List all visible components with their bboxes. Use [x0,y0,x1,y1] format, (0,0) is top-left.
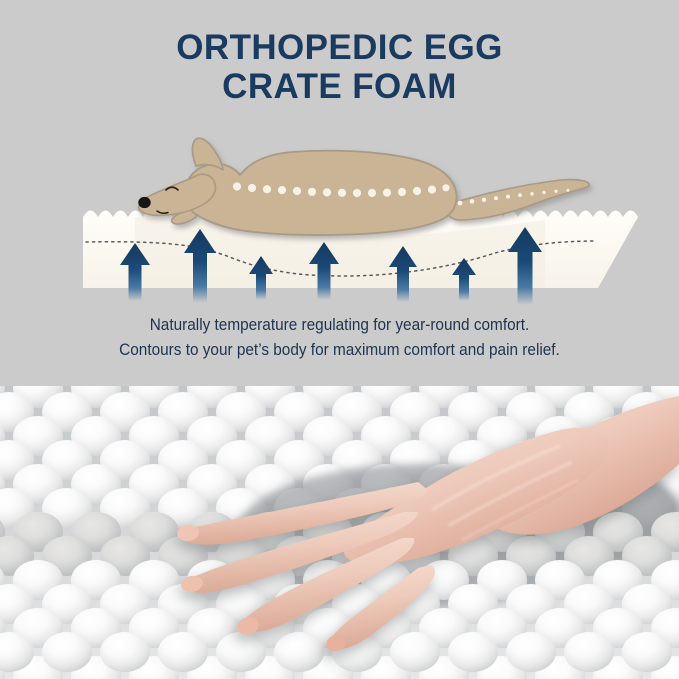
hand-pressing-foam-photo [0,386,679,679]
product-infographic: ORTHOPEDIC EGG CRATE FOAM [0,0,679,679]
benefit-line-2: Contours to your pet’s body for maximum … [24,338,655,363]
dog-nose [138,197,150,208]
headline-line-1: ORTHOPEDIC EGG [0,28,679,67]
benefit-text: Naturally temperature regulating for yea… [0,313,679,363]
dog-on-foam-illustration [0,125,679,310]
infographic-top-panel: ORTHOPEDIC EGG CRATE FOAM [0,0,679,386]
dog-ear [192,138,223,170]
page-title: ORTHOPEDIC EGG CRATE FOAM [0,28,679,106]
foam-photo-panel [0,386,679,679]
benefit-line-1: Naturally temperature regulating for yea… [24,313,655,338]
headline-line-2: CRATE FOAM [0,67,679,106]
